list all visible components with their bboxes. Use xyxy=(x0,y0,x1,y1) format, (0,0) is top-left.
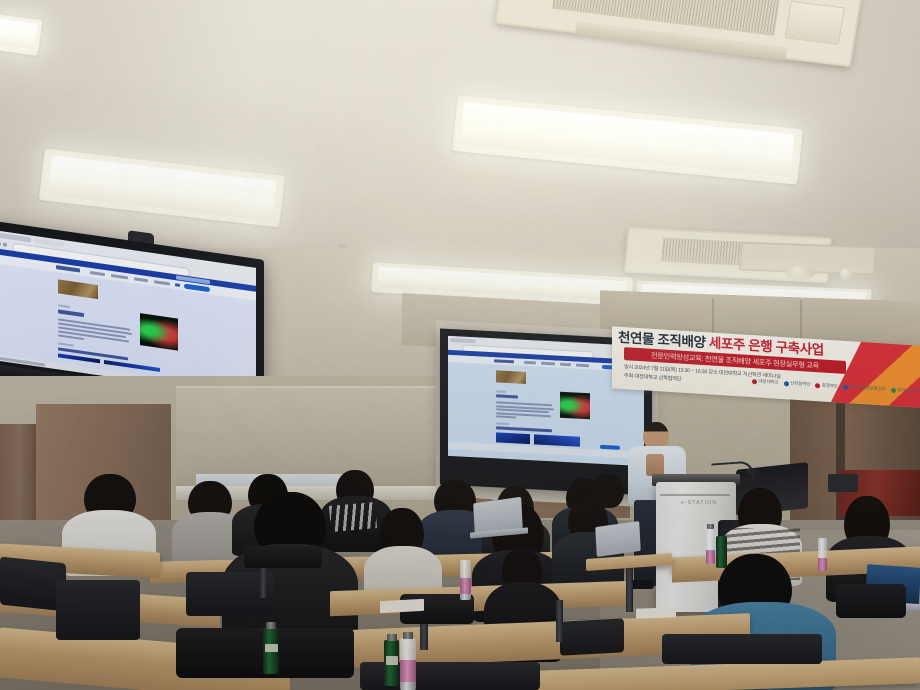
presenter-laptop[interactable] xyxy=(595,521,641,557)
microphone-head xyxy=(746,469,757,474)
search-icon[interactable] xyxy=(175,283,180,287)
water-bottle-label xyxy=(706,550,715,564)
tissue-culture-thumbnail xyxy=(496,370,526,384)
sponsor-logo: 산학협력단 xyxy=(784,380,811,388)
fluorescence-microscopy-image xyxy=(140,313,178,350)
bottle-cap xyxy=(707,524,714,529)
sponsor-logo: 충청북도 xyxy=(815,382,838,389)
notebook[interactable] xyxy=(636,607,676,618)
can-label xyxy=(386,656,398,665)
sprinkler-head xyxy=(840,268,853,281)
desk-leg xyxy=(626,566,633,612)
document-camera xyxy=(828,474,858,492)
presenter-hands xyxy=(646,454,664,476)
smoke-detector xyxy=(785,266,815,280)
green-coffee-can[interactable] xyxy=(716,536,727,568)
shirt-graphic-text xyxy=(329,502,377,532)
water-bottle-label xyxy=(460,578,471,594)
notebook[interactable] xyxy=(380,599,424,613)
ac-vane xyxy=(785,1,845,45)
can-cap xyxy=(266,622,276,629)
forward-icon[interactable] xyxy=(3,242,7,247)
chair[interactable] xyxy=(560,618,624,655)
can-cap xyxy=(387,634,397,641)
fluorescence-microscopy-image xyxy=(560,392,590,420)
nav-item[interactable] xyxy=(560,363,571,366)
video-thumbnail-left[interactable] xyxy=(496,432,530,444)
wall-seam xyxy=(800,300,802,342)
bottle-cap xyxy=(403,632,413,639)
chair[interactable] xyxy=(56,580,140,640)
water-bottle-label xyxy=(400,660,416,682)
ceiling-shadow-left xyxy=(0,0,330,262)
lectern-panel-seam xyxy=(660,494,730,496)
lecture-hall-photo: 천연물 조직배양 세포주 은행 구축사업 전문인력양성교육: 천연물 조직배양 … xyxy=(0,0,920,690)
banner-detail-line-2: 주최 대전대학교 산학협력단 xyxy=(624,372,681,383)
can-label xyxy=(265,644,278,652)
chair[interactable] xyxy=(662,634,822,664)
sponsor-logo: 대전대학교 xyxy=(752,378,779,386)
water-bottle-label xyxy=(818,558,827,571)
presenter-shoe-left xyxy=(630,580,654,589)
black-bag[interactable] xyxy=(244,546,322,568)
lectern-brand-label: e-STATION xyxy=(672,500,726,506)
desk-leg xyxy=(556,600,563,642)
black-bag[interactable] xyxy=(836,584,906,618)
